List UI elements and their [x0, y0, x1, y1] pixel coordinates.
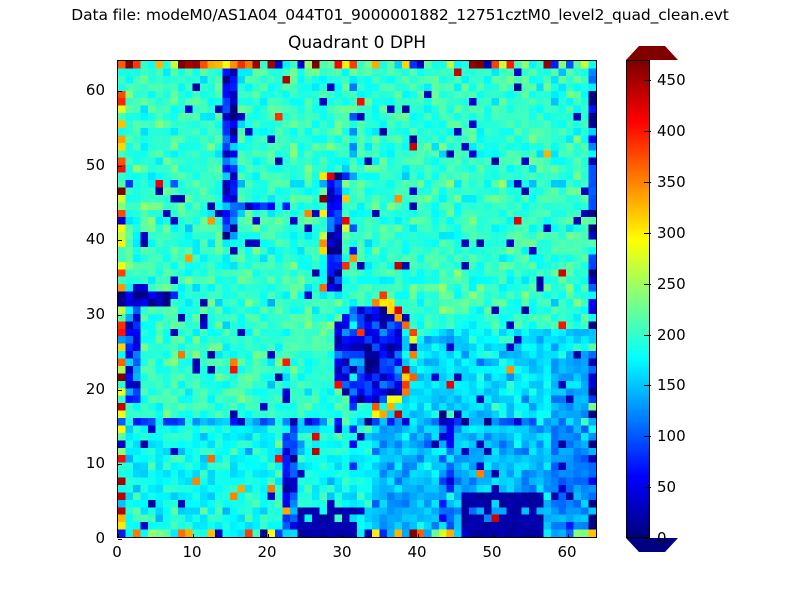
- colorbar-tick-mark: [644, 487, 651, 488]
- colorbar-tick-mark: [644, 335, 651, 336]
- y-tick-label: 20: [86, 380, 105, 398]
- x-tick-label: 50: [482, 543, 501, 561]
- y-tick-label: 50: [86, 156, 105, 174]
- heatmap-axes[interactable]: [117, 60, 597, 538]
- x-tick-label: 20: [257, 543, 276, 561]
- colorbar-extend-max-arrow: [626, 46, 678, 60]
- detector-heatmap-image[interactable]: [118, 61, 596, 537]
- y-tick-label: 60: [86, 81, 105, 99]
- colorbar-tick-mark: [644, 131, 651, 132]
- colorbar-tick-label: 150: [657, 376, 686, 394]
- y-tick-label: 30: [86, 305, 105, 323]
- colorbar-tick-mark: [644, 182, 651, 183]
- y-tick-mark: [118, 315, 122, 316]
- plot-title: Quadrant 0 DPH: [117, 33, 597, 53]
- y-tick-mark: [118, 464, 122, 465]
- x-tick-mark: [193, 534, 194, 538]
- colorbar[interactable]: 050100150200250300350400450: [626, 60, 652, 538]
- x-tick-mark: [493, 534, 494, 538]
- colorbar-tick-label: 200: [657, 326, 686, 344]
- y-tick-mark: [118, 166, 122, 167]
- x-tick-label: 10: [182, 543, 201, 561]
- colorbar-gradient: [627, 61, 649, 537]
- x-tick-label: 0: [112, 543, 122, 561]
- x-tick-mark: [568, 534, 569, 538]
- x-tick-mark: [268, 534, 269, 538]
- colorbar-tick-label: 50: [657, 478, 676, 496]
- x-tick-label: 40: [407, 543, 426, 561]
- colorbar-tick-mark: [644, 436, 651, 437]
- y-tick-mark: [118, 91, 122, 92]
- y-tick-mark: [118, 240, 122, 241]
- x-tick-mark: [343, 534, 344, 538]
- y-tick-label: 0: [95, 529, 105, 547]
- colorbar-tick-label: 400: [657, 122, 686, 140]
- colorbar-tick-label: 450: [657, 71, 686, 89]
- colorbar-tick-label: 350: [657, 173, 686, 191]
- colorbar-tick-label: 300: [657, 224, 686, 242]
- colorbar-tick-mark: [644, 284, 651, 285]
- x-axis-tick-labels: 0102030405060: [117, 539, 597, 563]
- colorbar-tick-label: 100: [657, 427, 686, 445]
- x-tick-label: 60: [557, 543, 576, 561]
- colorbar-tick-label: 250: [657, 275, 686, 293]
- x-tick-label: 30: [332, 543, 351, 561]
- colorbar-tick-mark: [644, 538, 651, 539]
- colorbar-tick-mark: [644, 385, 651, 386]
- figure-canvas: Data file: modeM0/AS1A04_044T01_90000018…: [0, 0, 800, 600]
- y-axis-tick-labels: 0102030405060: [57, 60, 111, 538]
- y-tick-label: 40: [86, 230, 105, 248]
- y-tick-label: 10: [86, 454, 105, 472]
- y-tick-mark: [118, 390, 122, 391]
- colorbar-tick-mark: [644, 80, 651, 81]
- x-tick-mark: [118, 534, 119, 538]
- colorbar-tick-mark: [644, 233, 651, 234]
- data-file-suptitle: Data file: modeM0/AS1A04_044T01_90000018…: [0, 6, 800, 24]
- colorbar-extend-min-arrow: [626, 538, 678, 552]
- x-tick-mark: [418, 534, 419, 538]
- colorbar-tick-label: 0: [657, 529, 667, 547]
